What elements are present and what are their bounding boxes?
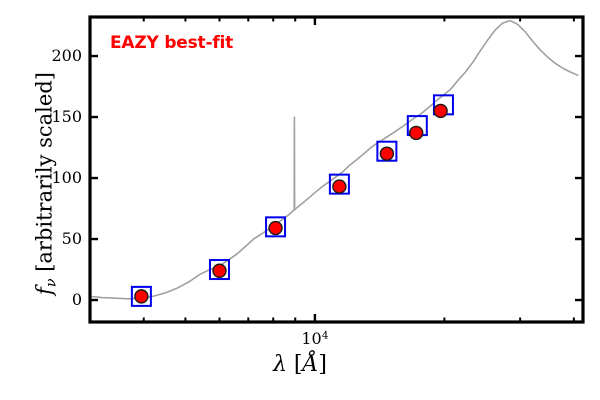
- x-tick-label: 104: [275, 329, 355, 348]
- observed-photometry-point: [380, 147, 393, 160]
- y-tick-label: 150: [26, 107, 82, 126]
- figure-canvas: EAZY best-fit fν [arbitrarily scaled] λ …: [0, 0, 600, 400]
- observed-photometry-point: [213, 264, 226, 277]
- observed-photometry-point: [269, 222, 282, 235]
- y-tick-label: 50: [26, 229, 82, 248]
- observed-photometry-point: [434, 104, 447, 117]
- observed-photometry-point: [135, 290, 148, 303]
- annotation-eazy-best-fit: EAZY best-fit: [110, 33, 233, 53]
- observed-photometry-point: [333, 180, 346, 193]
- y-tick-label: 200: [26, 46, 82, 65]
- x-axis-label: λ [Å]: [0, 352, 600, 377]
- observed-photometry-point: [410, 126, 423, 139]
- y-tick-label: 100: [26, 168, 82, 187]
- y-tick-label: 0: [26, 290, 82, 309]
